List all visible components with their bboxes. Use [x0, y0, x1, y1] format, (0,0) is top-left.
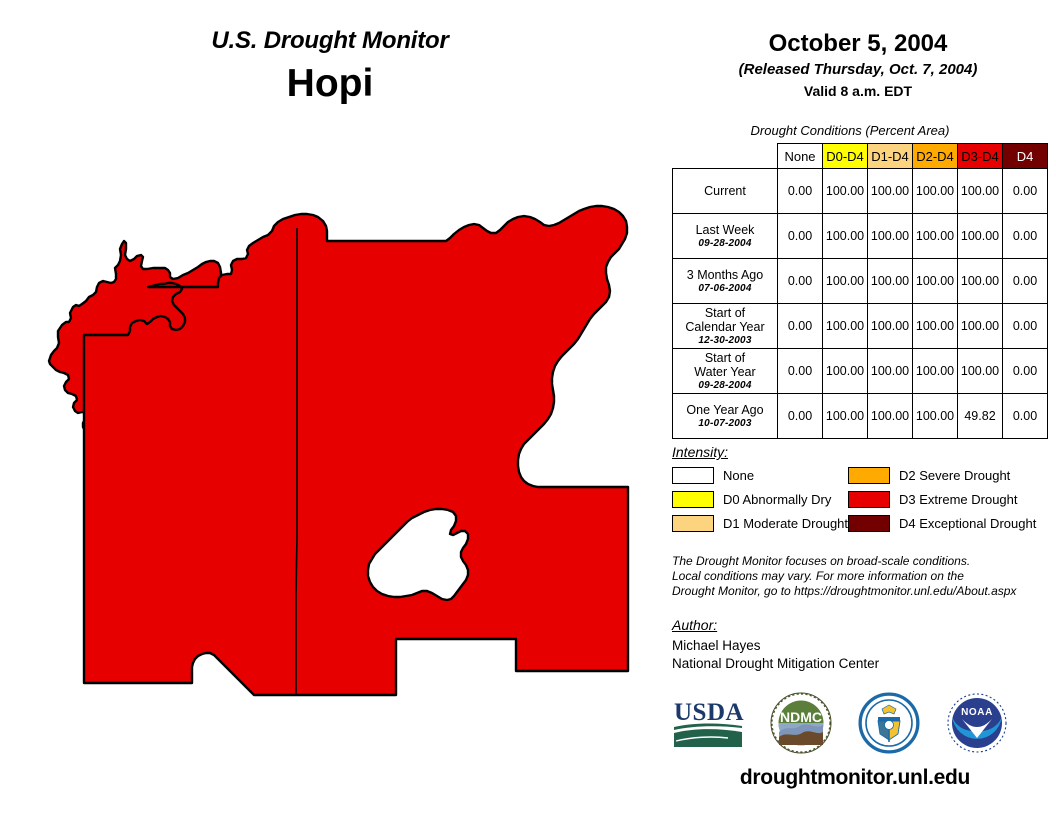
cell-lastweek-none: 0.00 [778, 214, 823, 259]
legend-label-d1: D1 Moderate Drought [723, 516, 848, 531]
swatch-d1 [672, 515, 714, 532]
table-row: Start of Calendar Year 12-30-2003 0.00 1… [673, 304, 1048, 349]
cell-oneyear-d2d4: 100.00 [913, 394, 958, 439]
cell-lastweek-d1d4: 100.00 [868, 214, 913, 259]
legend-item-d0: D0 Abnormally Dry [672, 490, 848, 508]
row-label-text: One Year Ago [686, 403, 763, 417]
cell-calyear-d2d4: 100.00 [913, 304, 958, 349]
column-header-d3d4: D3-D4 [958, 144, 1003, 169]
cell-wateryear-d3d4: 100.00 [958, 349, 1003, 394]
legend-item-none: None [672, 466, 848, 484]
intensity-heading: Intensity: [672, 444, 1052, 460]
page-title: U.S. Drought Monitor [0, 26, 660, 56]
cell-3months-d4: 0.00 [1003, 259, 1048, 304]
column-header-d0d4: D0-D4 [823, 144, 868, 169]
row-label-line1: Start of [705, 351, 745, 365]
cell-lastweek-d3d4: 100.00 [958, 214, 1003, 259]
valid-date: October 5, 2004 [660, 30, 1056, 58]
row-label-current: Current [673, 169, 778, 214]
row-label-text: Current [704, 184, 746, 198]
cell-current-d2d4: 100.00 [913, 169, 958, 214]
cell-current-d1d4: 100.00 [868, 169, 913, 214]
author-name: Michael Hayes [672, 637, 1052, 655]
site-url[interactable]: droughtmonitor.unl.edu [660, 766, 1050, 790]
intensity-legend: Intensity: None D2 Severe Drought D0 Abn… [672, 444, 1052, 532]
cell-calyear-d4: 0.00 [1003, 304, 1048, 349]
usda-logo[interactable]: USDA [672, 696, 744, 755]
logo-row: USDA NDMC [666, 694, 1056, 756]
cell-current-d3d4: 100.00 [958, 169, 1003, 214]
cell-wateryear-d1d4: 100.00 [868, 349, 913, 394]
column-header-d1d4: D1-D4 [868, 144, 913, 169]
disclaimer-line-1: The Drought Monitor focuses on broad-sca… [672, 554, 1052, 569]
row-label-date: 12-30-2003 [673, 334, 777, 347]
row-label-text: Last Week [696, 223, 755, 237]
row-label-date: 09-28-2004 [673, 379, 777, 392]
cell-oneyear-none: 0.00 [778, 394, 823, 439]
legend-label-d4: D4 Exceptional Drought [899, 516, 1036, 531]
cell-wateryear-d4: 0.00 [1003, 349, 1048, 394]
header-blank-cell [673, 144, 778, 169]
legend-item-d4: D4 Exceptional Drought [848, 514, 1052, 532]
released-date: (Released Thursday, Oct. 7, 2004) [660, 60, 1056, 80]
info-panel: October 5, 2004 (Released Thursday, Oct.… [660, 0, 1056, 816]
table-row: Current 0.00 100.00 100.00 100.00 100.00… [673, 169, 1048, 214]
row-label-start-calendar-year: Start of Calendar Year 12-30-2003 [673, 304, 778, 349]
conditions-table: None D0-D4 D1-D4 D2-D4 D3-D4 D4 Current … [672, 143, 1048, 439]
cell-calyear-d1d4: 100.00 [868, 304, 913, 349]
cell-wateryear-d2d4: 100.00 [913, 349, 958, 394]
map-title-block: U.S. Drought Monitor Hopi [0, 26, 660, 108]
cell-calyear-d0d4: 100.00 [823, 304, 868, 349]
row-label-start-water-year: Start of Water Year 09-28-2004 [673, 349, 778, 394]
swatch-d4 [848, 515, 890, 532]
table-row: 3 Months Ago 07-06-2004 0.00 100.00 100.… [673, 259, 1048, 304]
legend-label-d0: D0 Abnormally Dry [723, 492, 831, 507]
cell-oneyear-d1d4: 100.00 [868, 394, 913, 439]
svg-text:NDMC: NDMC [780, 709, 822, 725]
cell-current-none: 0.00 [778, 169, 823, 214]
drought-map[interactable] [10, 195, 660, 725]
legend-item-d3: D3 Extreme Drought [848, 490, 1052, 508]
legend-label-d2: D2 Severe Drought [899, 468, 1010, 483]
row-label-line1: Start of [705, 306, 745, 320]
swatch-none [672, 467, 714, 484]
swatch-d3 [848, 491, 890, 508]
cell-calyear-none: 0.00 [778, 304, 823, 349]
table-row: Start of Water Year 09-28-2004 0.00 100.… [673, 349, 1048, 394]
legend-grid: None D2 Severe Drought D0 Abnormally Dry… [672, 466, 1052, 532]
cell-current-d0d4: 100.00 [823, 169, 868, 214]
table-row: One Year Ago 10-07-2003 0.00 100.00 100.… [673, 394, 1048, 439]
usdc-seal[interactable] [858, 692, 920, 759]
cell-oneyear-d0d4: 100.00 [823, 394, 868, 439]
cell-3months-d3d4: 100.00 [958, 259, 1003, 304]
cell-lastweek-d2d4: 100.00 [913, 214, 958, 259]
date-block: October 5, 2004 (Released Thursday, Oct.… [660, 30, 1056, 100]
cell-lastweek-d0d4: 100.00 [823, 214, 868, 259]
row-label-last-week: Last Week 09-28-2004 [673, 214, 778, 259]
author-heading: Author: [672, 617, 1052, 633]
map-svg[interactable] [10, 195, 660, 725]
cell-lastweek-d4: 0.00 [1003, 214, 1048, 259]
map-panel: U.S. Drought Monitor Hopi [0, 0, 660, 816]
row-label-line2: Calendar Year [685, 320, 764, 334]
cell-wateryear-d0d4: 100.00 [823, 349, 868, 394]
legend-label-none: None [723, 468, 754, 483]
svg-text:USDA: USDA [674, 699, 744, 726]
row-label-text: 3 Months Ago [687, 268, 763, 282]
region-title: Hopi [0, 60, 660, 108]
swatch-d2 [848, 467, 890, 484]
drought-conditions-table: None D0-D4 D1-D4 D2-D4 D3-D4 D4 Current … [672, 143, 1048, 439]
svg-text:NOAA: NOAA [961, 707, 993, 718]
cell-wateryear-none: 0.00 [778, 349, 823, 394]
legend-item-d1: D1 Moderate Drought [672, 514, 848, 532]
cell-oneyear-d3d4: 49.82 [958, 394, 1003, 439]
author-block: Author: Michael Hayes National Drought M… [672, 617, 1052, 673]
author-organization: National Drought Mitigation Center [672, 655, 1052, 673]
cell-oneyear-d4: 0.00 [1003, 394, 1048, 439]
table-row: Last Week 09-28-2004 0.00 100.00 100.00 … [673, 214, 1048, 259]
cell-current-d4: 0.00 [1003, 169, 1048, 214]
legend-label-d3: D3 Extreme Drought [899, 492, 1018, 507]
table-header-row: None D0-D4 D1-D4 D2-D4 D3-D4 D4 [673, 144, 1048, 169]
cell-3months-none: 0.00 [778, 259, 823, 304]
row-label-date: 10-07-2003 [673, 417, 777, 430]
cell-calyear-d3d4: 100.00 [958, 304, 1003, 349]
cell-3months-d2d4: 100.00 [913, 259, 958, 304]
row-label-line2: Water Year [694, 365, 755, 379]
disclaimer-text: The Drought Monitor focuses on broad-sca… [672, 554, 1052, 599]
column-header-none: None [778, 144, 823, 169]
disclaimer-line-3: Drought Monitor, go to https://droughtmo… [672, 584, 1052, 599]
valid-time: Valid 8 a.m. EDT [660, 82, 1056, 100]
row-label-one-year-ago: One Year Ago 10-07-2003 [673, 394, 778, 439]
table-caption: Drought Conditions (Percent Area) [660, 123, 1040, 138]
column-header-d2d4: D2-D4 [913, 144, 958, 169]
cell-3months-d0d4: 100.00 [823, 259, 868, 304]
row-label-date: 07-06-2004 [673, 282, 777, 295]
disclaimer-line-2: Local conditions may vary. For more info… [672, 569, 1052, 584]
legend-item-d2: D2 Severe Drought [848, 466, 1052, 484]
row-label-3-months-ago: 3 Months Ago 07-06-2004 [673, 259, 778, 304]
column-header-d4: D4 [1003, 144, 1048, 169]
cell-3months-d1d4: 100.00 [868, 259, 913, 304]
ndmc-logo[interactable]: NDMC [770, 692, 832, 759]
row-label-date: 09-28-2004 [673, 237, 777, 250]
swatch-d0 [672, 491, 714, 508]
noaa-logo[interactable]: NOAA [946, 692, 1008, 759]
